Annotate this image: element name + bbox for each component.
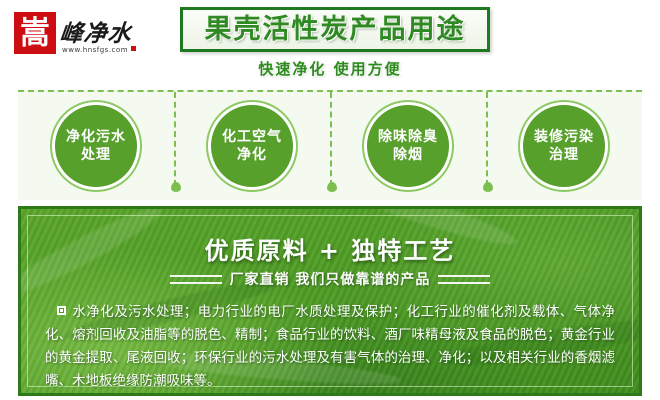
company-logo: 嵩 峰净水 www.hnsfgs.com bbox=[14, 10, 140, 62]
usage-label-line1: 化工空气 bbox=[222, 128, 282, 146]
usage-bubble[interactable]: 除味除臭 除烟 bbox=[364, 102, 452, 190]
usage-label-line1: 净化污水 bbox=[66, 128, 126, 146]
quality-panel: 优质原料 + 独特工艺 厂家直销 我们只做靠谱的产品 水净化及污水处理；电力行业… bbox=[18, 206, 642, 396]
usage-item-3[interactable]: 除味除臭 除烟 bbox=[330, 92, 486, 200]
usage-item-4[interactable]: 装修污染 治理 bbox=[486, 92, 642, 200]
page-subtitle: 快速净化 使用方便 bbox=[0, 58, 660, 79]
usage-label-line2: 处理 bbox=[81, 146, 111, 164]
square-bullet-icon bbox=[57, 306, 66, 315]
usage-bubble-row: 净化污水 处理 化工空气 净化 除味除臭 除烟 装修污染 治理 bbox=[18, 90, 642, 200]
usage-item-1[interactable]: 净化污水 处理 bbox=[18, 92, 174, 200]
usage-bubble[interactable]: 装修污染 治理 bbox=[520, 102, 608, 190]
usage-bubble[interactable]: 净化污水 处理 bbox=[52, 102, 140, 190]
usage-item-2[interactable]: 化工空气 净化 bbox=[174, 92, 330, 200]
logo-url-text: www.hnsfgs.com bbox=[62, 46, 128, 54]
title-banner: 果壳活性炭产品用途 bbox=[180, 7, 490, 52]
rule-right-decoration bbox=[438, 275, 490, 284]
page-title: 果壳活性炭产品用途 bbox=[205, 16, 466, 43]
logo-website-url: www.hnsfgs.com bbox=[62, 46, 136, 54]
usage-label-line1: 除味除臭 bbox=[378, 128, 438, 146]
panel-subheading: 厂家直销 我们只做靠谱的产品 bbox=[230, 269, 431, 289]
red-square-icon bbox=[131, 46, 136, 51]
panel-body-paragraph: 水净化及污水处理；电力行业的电厂水质处理及保护；化工行业的催化剂及载体、气体净化… bbox=[45, 301, 615, 393]
usage-label-line2: 除烟 bbox=[393, 146, 423, 164]
panel-body-text: 水净化及污水处理；电力行业的电厂水质处理及保护；化工行业的催化剂及载体、气体净化… bbox=[45, 304, 615, 389]
usage-label-line1: 装修污染 bbox=[534, 128, 594, 146]
panel-heading: 优质原料 + 独特工艺 bbox=[21, 231, 639, 266]
header: 嵩 峰净水 www.hnsfgs.com 果壳活性炭产品用途 快速净化 使用方便 bbox=[0, 0, 660, 88]
panel-subheading-row: 厂家直销 我们只做靠谱的产品 bbox=[21, 269, 639, 289]
logo-seal-icon: 嵩 bbox=[14, 12, 56, 54]
logo-seal-char: 嵩 bbox=[20, 17, 49, 48]
usage-label-line2: 治理 bbox=[549, 146, 579, 164]
usage-label-line2: 净化 bbox=[237, 146, 267, 164]
product-usage-banner: 嵩 峰净水 www.hnsfgs.com 果壳活性炭产品用途 快速净化 使用方便… bbox=[0, 0, 660, 400]
rule-left-decoration bbox=[170, 275, 222, 284]
usage-bubble[interactable]: 化工空气 净化 bbox=[208, 102, 296, 190]
logo-brand-name: 峰净水 bbox=[58, 14, 134, 48]
